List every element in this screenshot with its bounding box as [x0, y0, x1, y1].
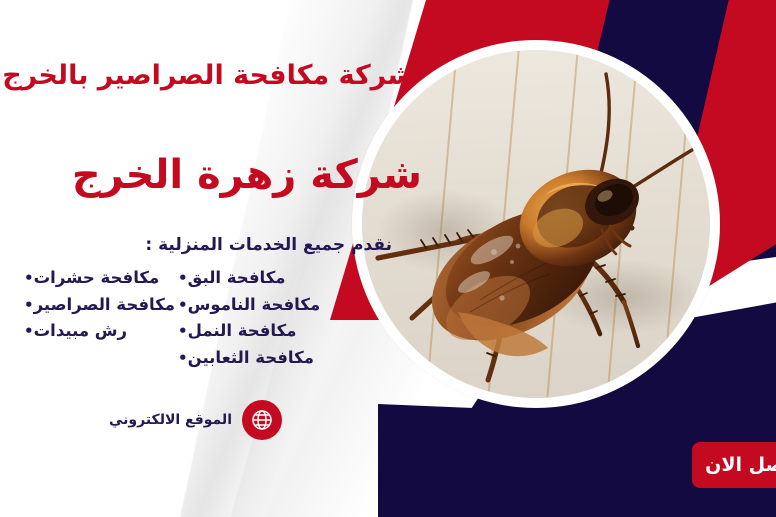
text-column: شركة مكافحة الصراصير بالخرج شركة زهرة ال… [0, 60, 392, 372]
bullet-icon: • [178, 298, 188, 313]
cockroach-photo [362, 50, 710, 398]
call-now-button[interactable]: اتصل الان [692, 442, 776, 488]
list-item: مكافحة الناموس • [170, 292, 376, 319]
bullet-icon: • [24, 324, 34, 339]
list-item: مكافحة حشرات • [16, 265, 186, 292]
services-column-right: مكافحة حشرات • مكافحة الصراصير • رش مبيد… [0, 265, 186, 372]
bullet-icon: • [178, 351, 188, 366]
website-label: الموقع الالكتروني [109, 412, 232, 428]
website-row[interactable]: الموقع الالكتروني [0, 400, 270, 440]
list-item: مكافحة النمل • [170, 318, 376, 345]
list-item: مكافحة البق • [170, 265, 376, 292]
service-label: مكافحة الصراصير [34, 292, 175, 319]
bullet-icon: • [178, 324, 188, 339]
list-item: مكافحة الثعابين • [170, 345, 376, 372]
services-column-left: مكافحة البق • مكافحة الناموس • مكافحة ال… [186, 265, 392, 372]
bullet-icon: • [24, 271, 34, 286]
service-label: مكافحة النمل [188, 318, 297, 345]
top-headline: شركة مكافحة الصراصير بالخرج [22, 60, 414, 91]
list-item: رش مبيدات • [16, 318, 186, 345]
advertisement-banner: شركة مكافحة الصراصير بالخرج شركة زهرة ال… [0, 0, 776, 517]
service-label: مكافحة الثعابين [188, 345, 314, 372]
service-label: مكافحة البق [188, 265, 286, 292]
globe-icon[interactable] [242, 400, 282, 440]
service-label: رش مبيدات [34, 318, 127, 345]
call-now-label: اتصل الان [705, 454, 776, 476]
cockroach-illustration [362, 50, 710, 398]
bullet-icon: • [178, 271, 188, 286]
services-intro: نقدم جميع الخدمات المنزلية : [0, 235, 392, 255]
services-columns: مكافحة البق • مكافحة الناموس • مكافحة ال… [0, 265, 392, 372]
list-item: مكافحة الصراصير • [16, 292, 186, 319]
company-title: شركة زهرة الخرج [30, 153, 422, 197]
bullet-icon: • [24, 298, 34, 313]
service-label: مكافحة الناموس [188, 292, 321, 319]
service-label: مكافحة حشرات [34, 265, 160, 292]
